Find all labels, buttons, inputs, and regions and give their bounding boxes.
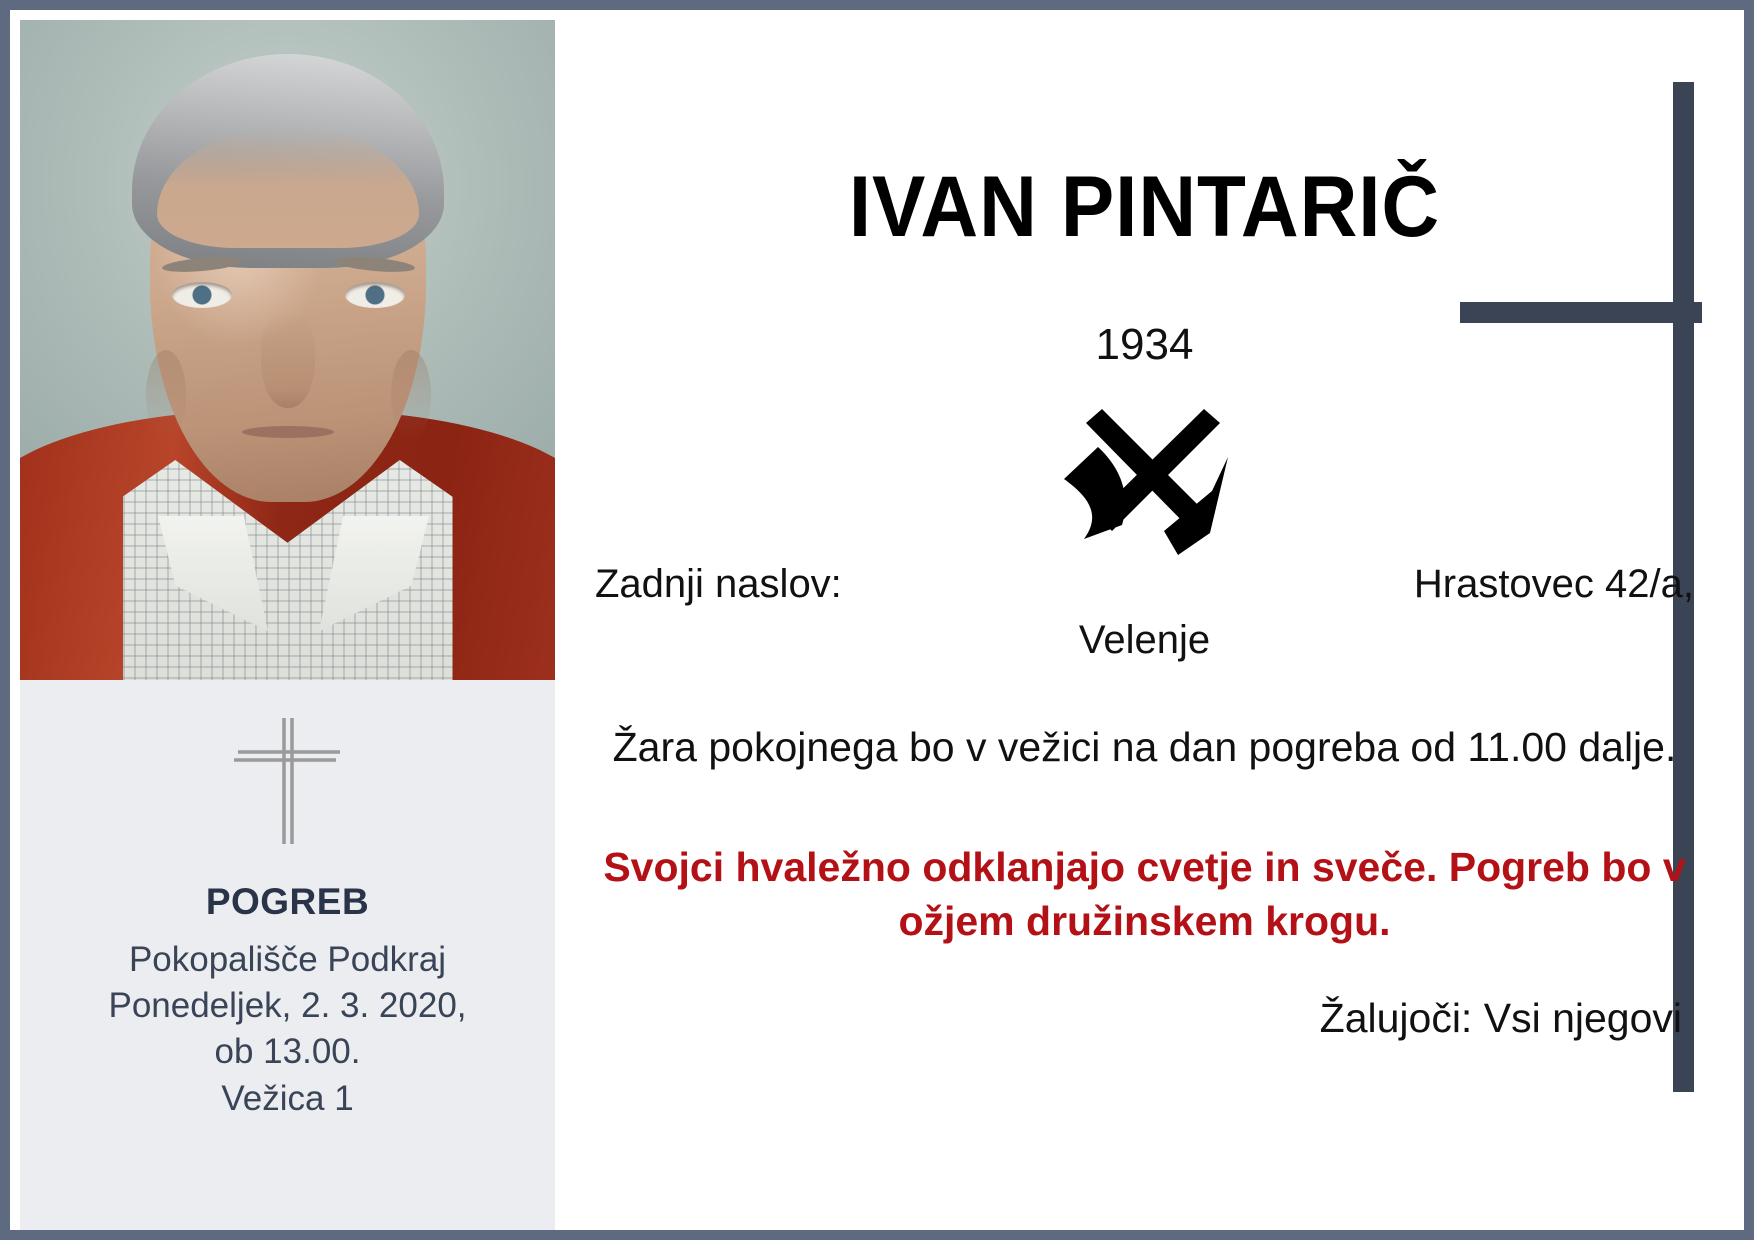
- flowers-notice: Svojci hvaležno odklanjajo cvetje in sve…: [577, 840, 1712, 948]
- birth-year: 1934: [555, 320, 1734, 370]
- pogreb-heading: POGREB: [206, 881, 369, 923]
- portrait-eye-left: [172, 282, 232, 308]
- portrait-eye-right: [345, 282, 405, 308]
- address-label: Zadnji naslov:: [595, 562, 842, 607]
- cross-icon: [228, 712, 348, 847]
- portrait-nose: [261, 312, 315, 408]
- funeral-details: POGREB Pokopališče Podkraj Ponedeljek, 2…: [20, 680, 555, 1240]
- urn-information: Žara pokojnega bo v vežici na dan pogreb…: [581, 720, 1708, 774]
- deceased-name: IVAN PINTARIČ: [596, 158, 1692, 257]
- funeral-time: ob 13.00.: [215, 1029, 361, 1075]
- sidebar-panel: POGREB Pokopališče Podkraj Ponedeljek, 2…: [20, 20, 555, 1240]
- crossed-hammer-and-pick-icon: [1060, 405, 1230, 565]
- main-content: IVAN PINTARIČ 1934 Zadnji naslov: Hrasto…: [555, 20, 1734, 1220]
- chapel-number: Vežica 1: [221, 1076, 353, 1122]
- cemetery-name: Pokopališče Podkraj: [129, 937, 446, 983]
- funeral-date: Ponedeljek, 2. 3. 2020,: [108, 983, 466, 1029]
- portrait-cheek-left: [146, 350, 186, 440]
- portrait-cheek-right: [391, 350, 431, 440]
- mourners-line: Žalujoči: Vsi njegovi: [1320, 995, 1682, 1042]
- portrait-photo: [20, 20, 555, 680]
- obituary-notice: POGREB Pokopališče Podkraj Ponedeljek, 2…: [0, 0, 1754, 1240]
- address-value: Hrastovec 42/a,: [1414, 562, 1694, 607]
- portrait-mouth: [242, 426, 334, 438]
- address-city: Velenje: [555, 618, 1734, 663]
- last-address-row: Zadnji naslov: Hrastovec 42/a,: [595, 562, 1694, 607]
